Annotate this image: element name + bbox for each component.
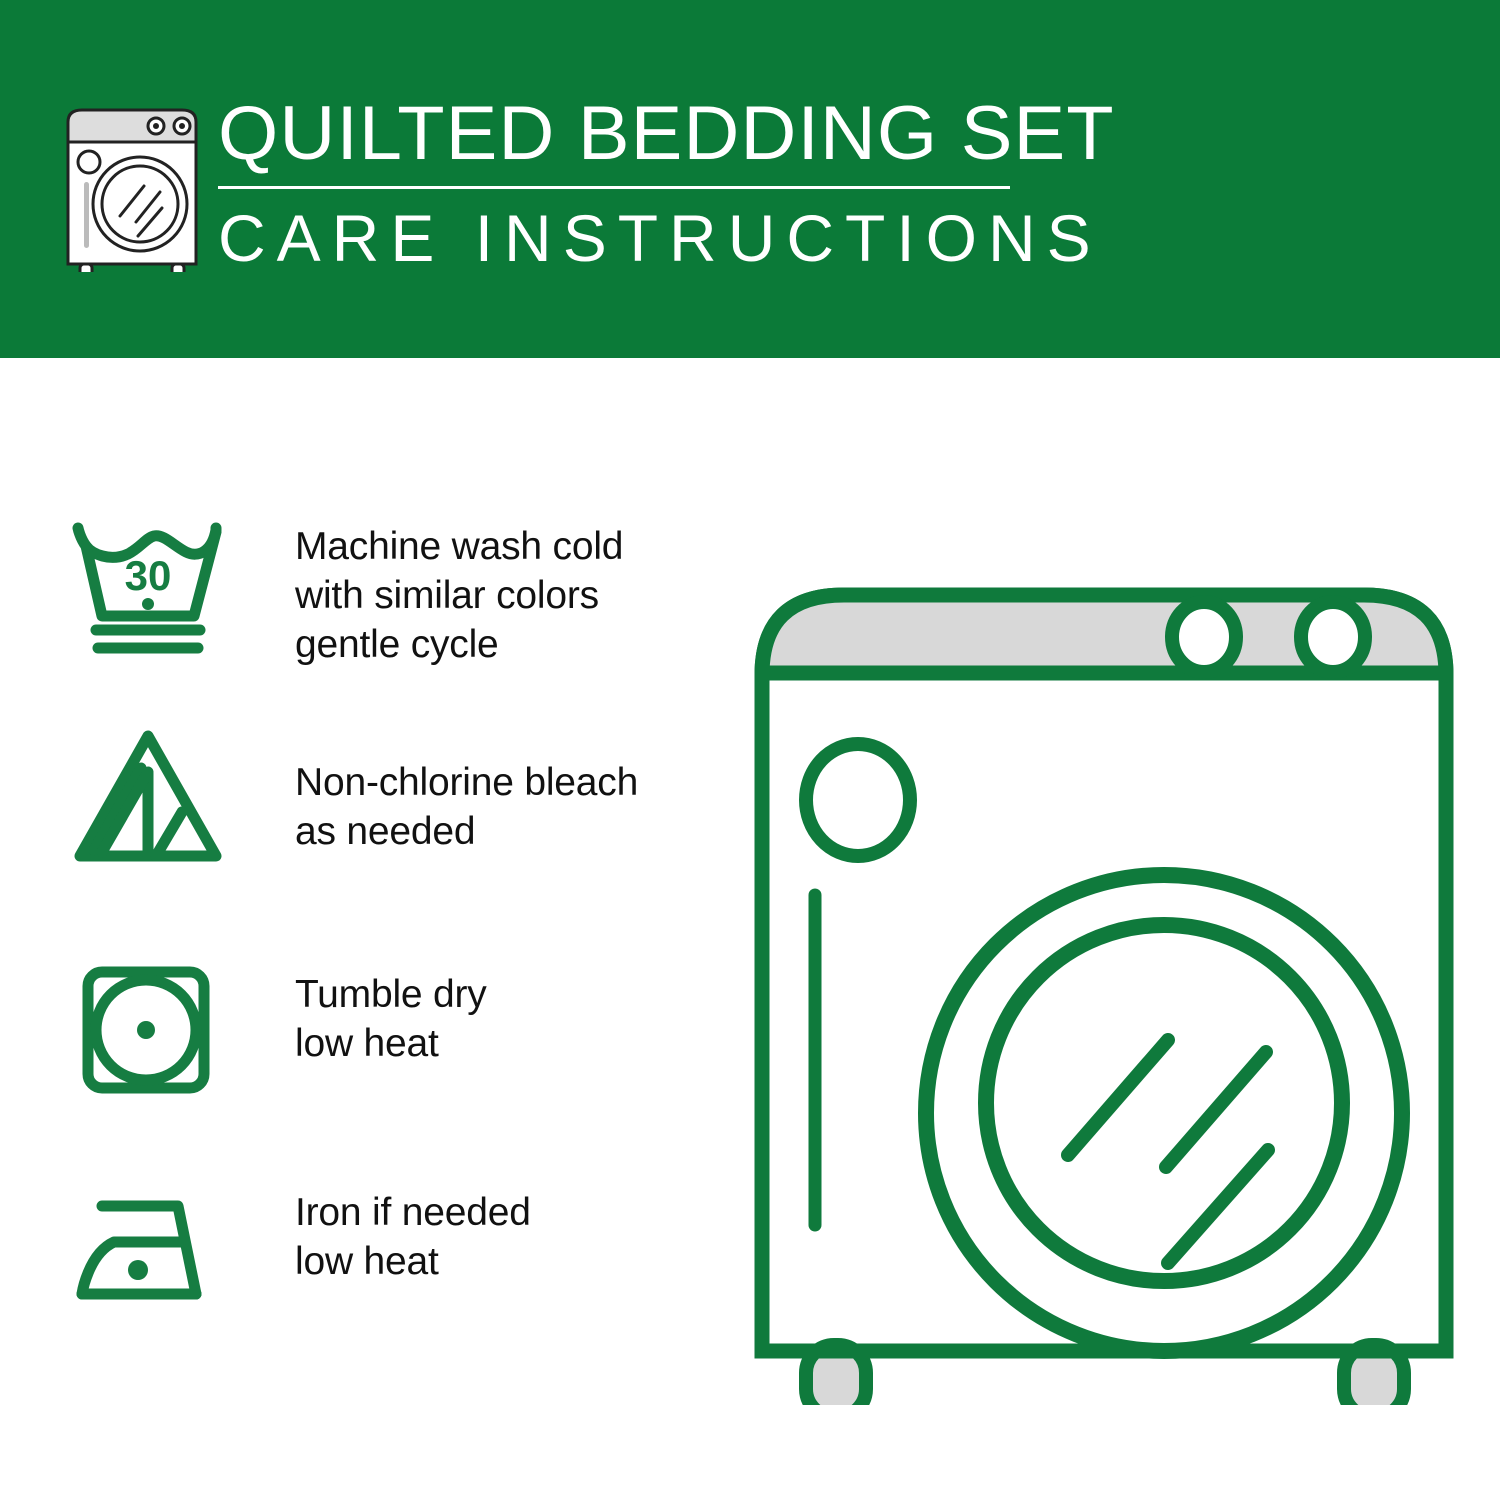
care-line: Tumble dry xyxy=(295,970,726,1019)
washing-machine-icon xyxy=(62,104,202,272)
knob-right xyxy=(1301,602,1365,672)
care-line: with similar colors xyxy=(295,571,726,620)
care-line: low heat xyxy=(295,1019,726,1068)
care-row-iron: Iron if needed low heat xyxy=(66,1164,726,1364)
header-text-block: QUILTED BEDDING SET CARE INSTRUCTIONS xyxy=(218,96,1018,271)
care-line: low heat xyxy=(295,1237,726,1286)
care-row-tumble-dry: Tumble dry low heat xyxy=(66,944,726,1164)
care-text-iron: Iron if needed low heat xyxy=(251,1164,726,1286)
care-line: Machine wash cold xyxy=(295,522,726,571)
care-instructions-infographic: QUILTED BEDDING SET CARE INSTRUCTIONS xyxy=(0,0,1500,1500)
tumble-dry-icon xyxy=(66,944,251,1104)
detergent-indicator xyxy=(806,744,910,856)
care-line: gentle cycle xyxy=(295,620,726,669)
wash-temperature-label: 30 xyxy=(125,552,172,599)
bleach-triangle-icon xyxy=(66,722,251,872)
care-text-tumble-dry: Tumble dry low heat xyxy=(251,944,726,1068)
care-text-bleach: Non-chlorine bleach as needed xyxy=(251,722,726,856)
care-line: as needed xyxy=(295,807,726,856)
care-line: Iron if needed xyxy=(295,1188,726,1237)
title-divider xyxy=(218,186,1010,189)
care-row-machine-wash: 30 Machine wash cold with similar colors… xyxy=(66,500,726,722)
iron-icon xyxy=(66,1164,251,1336)
front-load-washing-machine-illustration xyxy=(748,495,1460,1405)
care-row-bleach: Non-chlorine bleach as needed xyxy=(66,722,726,944)
knob-left xyxy=(1172,602,1236,672)
page-subtitle: CARE INSTRUCTIONS xyxy=(218,205,1018,271)
care-instruction-list: 30 Machine wash cold with similar colors… xyxy=(66,500,726,1364)
drum-door-inner-ring xyxy=(986,925,1342,1281)
page-title: QUILTED BEDDING SET xyxy=(218,96,1034,172)
care-text-machine-wash: Machine wash cold with similar colors ge… xyxy=(251,500,726,669)
care-line: Non-chlorine bleach xyxy=(295,758,726,807)
header-band: QUILTED BEDDING SET CARE INSTRUCTIONS xyxy=(0,0,1500,358)
wash-tub-30-icon: 30 xyxy=(66,500,251,662)
